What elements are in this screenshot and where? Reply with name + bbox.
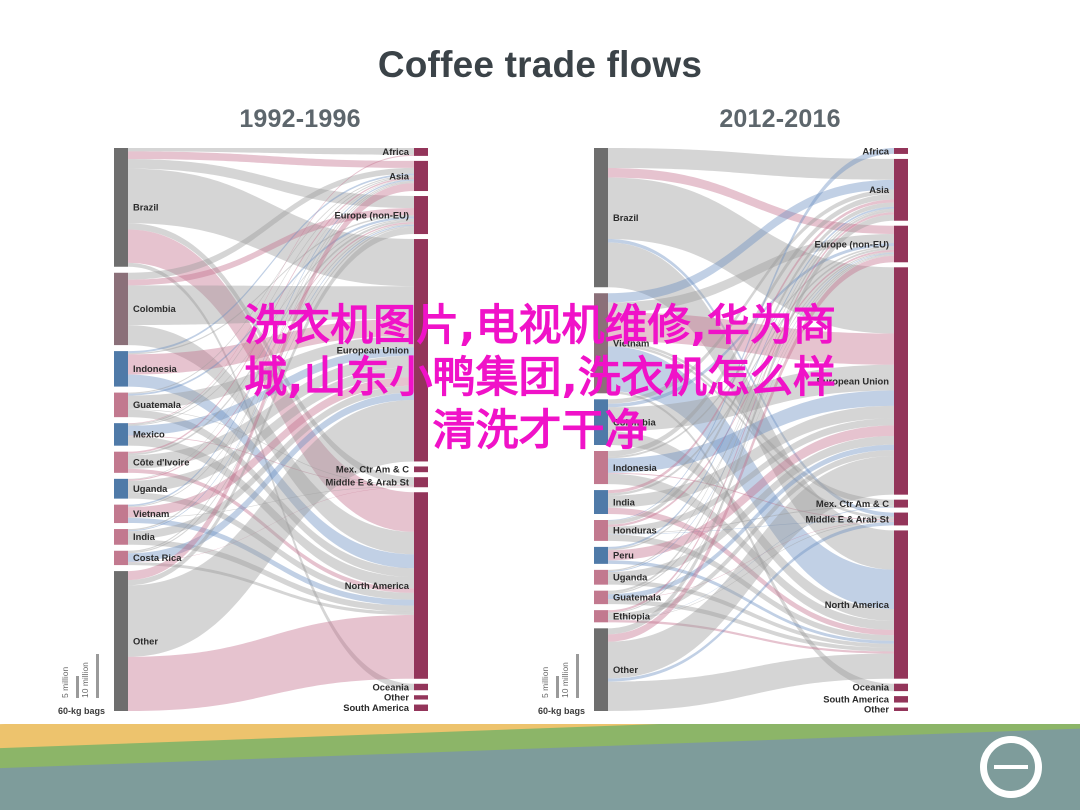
sankey-node[interactable] (114, 393, 128, 418)
sankey-node[interactable] (114, 505, 128, 523)
legend-tick-bar (576, 654, 579, 698)
sankey-node[interactable] (894, 684, 908, 691)
sankey-node[interactable] (414, 492, 428, 679)
sankey-node[interactable] (594, 293, 608, 393)
panel-subtitle-left: 1992-1996 (120, 105, 480, 134)
node-label: Indonesia (133, 363, 178, 374)
sankey-node[interactable] (414, 196, 428, 234)
sankey-node[interactable] (114, 452, 128, 473)
sankey-node[interactable] (594, 591, 608, 604)
scale-legend-right: 5 million10 million60-kg bags (538, 640, 628, 720)
sankey-node[interactable] (894, 530, 908, 678)
sankey-node[interactable] (894, 500, 908, 508)
legend-tick-bar (556, 676, 559, 698)
sankey-node[interactable] (894, 159, 908, 221)
chart-canvas: Coffee trade flows 1992-1996 2012-2016 B… (0, 0, 1080, 810)
node-label: Mex. Ctr Am & C (816, 498, 889, 509)
node-label: Asia (869, 184, 890, 195)
sankey-node[interactable] (114, 423, 128, 446)
sankey-node[interactable] (594, 399, 608, 445)
sankey-node[interactable] (114, 529, 128, 545)
sankey-node[interactable] (414, 477, 428, 487)
node-label: Côte d'Ivoire (133, 457, 189, 468)
node-label: Indonesia (613, 462, 658, 473)
node-label: Vietnam (133, 508, 169, 519)
sankey-node[interactable] (594, 451, 608, 484)
sankey-panel-1992-1996: BrazilColombiaIndonesiaGuatemalaMexicoCô… (62, 142, 480, 717)
node-label: Europe (non-EU) (815, 238, 889, 249)
node-label: Guatemala (613, 592, 662, 603)
node-label: Guatemala (133, 399, 182, 410)
sankey-node[interactable] (414, 695, 428, 699)
sankey-node[interactable] (594, 520, 608, 541)
node-label: Uganda (133, 483, 168, 494)
legend-caption: 60-kg bags (538, 706, 585, 716)
legend-tick-label: 5 million (540, 667, 550, 698)
sankey-node[interactable] (114, 551, 128, 565)
sankey-node[interactable] (414, 161, 428, 191)
node-label: India (613, 496, 636, 507)
sankey-node[interactable] (894, 696, 908, 702)
sankey-node[interactable] (414, 239, 428, 461)
node-label: Honduras (613, 525, 657, 536)
node-label: Ethiopia (613, 611, 651, 622)
node-label: Vietnam (613, 338, 649, 349)
sankey-node[interactable] (594, 610, 608, 622)
node-label: Other (864, 704, 889, 715)
node-label: Other (384, 692, 409, 703)
page-title: Coffee trade flows (0, 44, 1080, 86)
sankey-node[interactable] (414, 466, 428, 472)
node-label: North America (345, 580, 410, 591)
theta-circle-icon (980, 736, 1042, 798)
node-label: Oceania (853, 682, 890, 693)
panel-subtitle-right: 2012-2016 (600, 105, 960, 134)
sankey-node[interactable] (594, 148, 608, 287)
node-label: Colombia (613, 416, 656, 427)
sankey-node[interactable] (414, 148, 428, 156)
node-label: Africa (382, 146, 409, 157)
node-label: India (133, 531, 156, 542)
sankey-node[interactable] (894, 513, 908, 526)
sankey-node[interactable] (894, 226, 908, 263)
sankey-svg: BrazilVietnamColombiaIndonesiaIndiaHondu… (542, 142, 960, 717)
sankey-svg: BrazilColombiaIndonesiaGuatemalaMexicoCô… (62, 142, 480, 717)
node-label: Brazil (133, 202, 159, 213)
node-label: Colombia (133, 303, 176, 314)
bottom-banner (0, 724, 1080, 810)
legend-tick-label: 10 million (560, 662, 570, 698)
sankey-node[interactable] (894, 708, 908, 711)
node-label: Africa (862, 145, 889, 156)
node-label: North America (825, 599, 890, 610)
node-label: Brazil (613, 212, 639, 223)
flow-links (608, 148, 894, 711)
node-label: Costa Rica (133, 552, 182, 563)
legend-tick-bar (76, 676, 79, 698)
sankey-node[interactable] (114, 479, 128, 499)
node-label: South America (343, 702, 410, 713)
node-label: Mex. Ctr Am & C (336, 464, 409, 475)
sankey-node[interactable] (414, 705, 428, 711)
node-label: Peru (613, 550, 634, 561)
sankey-node[interactable] (114, 273, 128, 345)
legend-caption: 60-kg bags (58, 706, 105, 716)
legend-tick-bar (96, 654, 99, 698)
flow-links (128, 148, 414, 711)
node-label: Oceania (373, 681, 410, 692)
node-label: Mexico (133, 429, 165, 440)
node-label: European Union (337, 345, 410, 356)
sankey-node[interactable] (414, 684, 428, 690)
sankey-node[interactable] (594, 570, 608, 585)
sankey-node[interactable] (894, 267, 908, 494)
sankey-node[interactable] (594, 490, 608, 514)
node-label: Asia (389, 170, 410, 181)
node-label: European Union (817, 375, 890, 386)
node-label: Middle E & Arab St (325, 477, 409, 488)
node-label: Middle E & Arab St (805, 513, 889, 524)
sankey-node[interactable] (594, 547, 608, 564)
node-label: Uganda (613, 572, 648, 583)
sankey-node[interactable] (114, 148, 128, 267)
scale-legend-left: 5 million10 million60-kg bags (58, 640, 148, 720)
sankey-node[interactable] (894, 148, 908, 154)
node-label: Europe (non-EU) (335, 209, 409, 220)
legend-tick-label: 10 million (80, 662, 90, 698)
sankey-panel-2012-2016: BrazilVietnamColombiaIndonesiaIndiaHondu… (542, 142, 960, 717)
sankey-node[interactable] (114, 351, 128, 386)
legend-tick-label: 5 million (60, 667, 70, 698)
